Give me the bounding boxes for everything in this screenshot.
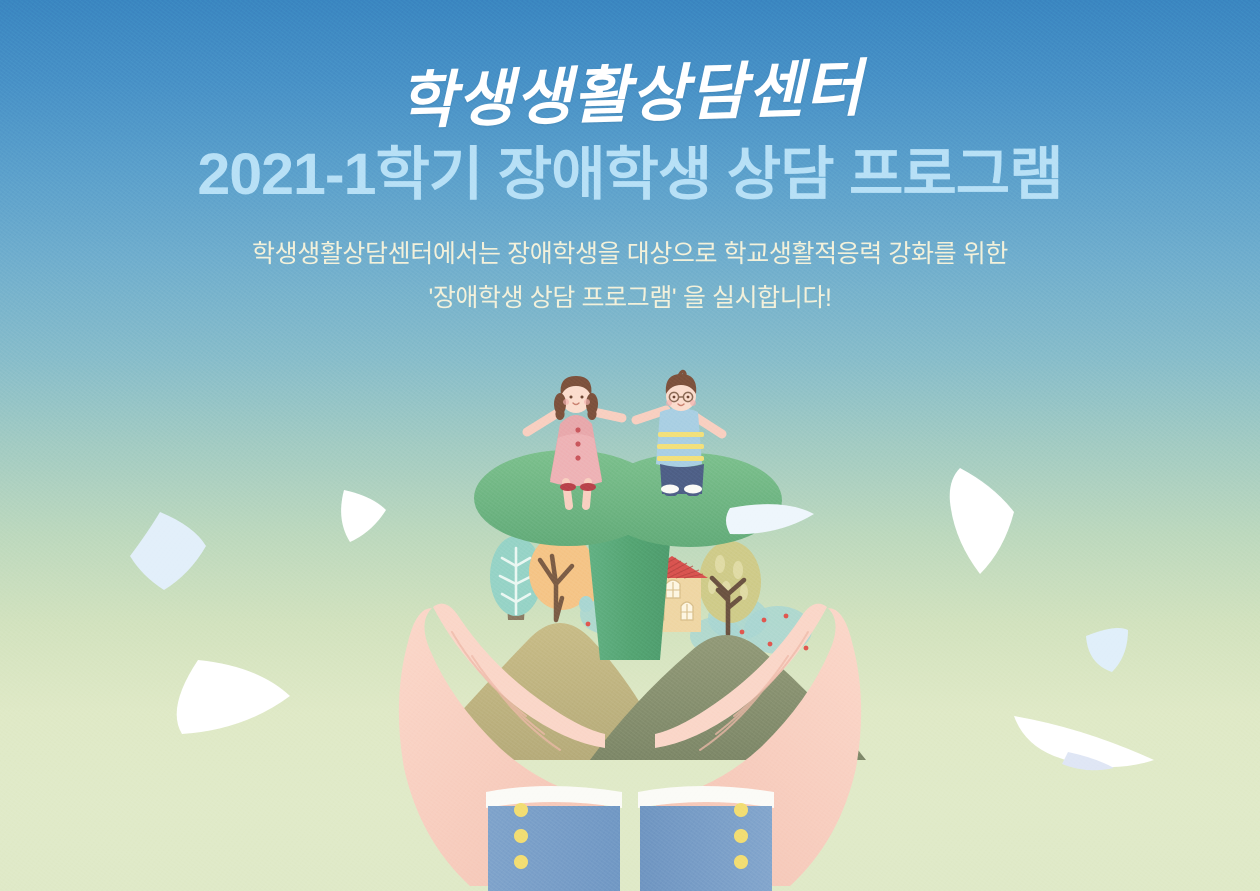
blue-sleeve-left [486, 786, 622, 891]
paper-mid-upper [341, 490, 386, 542]
sleeve-buttons-left [514, 803, 528, 869]
description-line-1: 학생생활상담센터에서는 장애학생을 대상으로 학교생활적응력 강화를 위한 [252, 240, 1008, 268]
blue-sleeve-right [638, 786, 774, 891]
page-title: 2021-1학기 장애학생 상담 프로그램 [0, 127, 1260, 207]
paper-right-mid [1086, 628, 1128, 672]
description-line-2: '장애학생 상담 프로그램' 을 실시합니다! [0, 277, 1260, 321]
poster-canvas: 학생생활상담센터 2021-1학기 장애학생 상담 프로그램 학생생활상담센터에… [0, 0, 1260, 891]
script-title: 학생생활상담센터 [0, 0, 1260, 145]
paper-left-lower [177, 660, 290, 734]
paper-right-top [950, 468, 1014, 574]
description-paragraph: 학생생활상담센터에서는 장애학생을 대상으로 학교생활적응력 강화를 위한 '장… [0, 207, 1260, 321]
poster-text-block: 학생생활상담센터 2021-1학기 장애학생 상담 프로그램 학생생활상담센터에… [0, 0, 1260, 320]
paper-left-upper [130, 512, 206, 590]
paper-center-right [726, 504, 814, 534]
sleeve-buttons-right [734, 803, 748, 869]
